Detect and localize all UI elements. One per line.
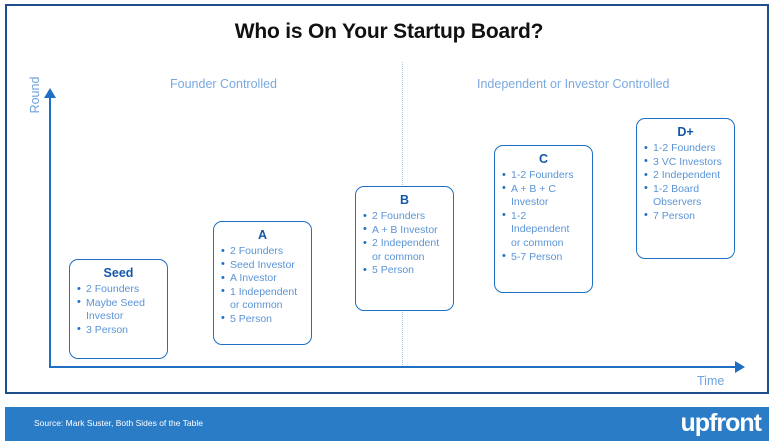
stage-item-list: 2 FoundersA + B Investor2 Independentor … <box>363 210 446 278</box>
stage-box-d-plus[interactable]: D+ 1-2 Founders3 VC Investors2 Independe… <box>636 118 735 259</box>
stage-item: 3 VC Investors <box>644 156 727 170</box>
stage-item-list: 2 FoundersSeed InvestorA Investor1 Indep… <box>221 245 304 327</box>
stage-item: 5 Person <box>363 264 446 278</box>
stage-item: Independent <box>502 223 585 237</box>
diagram-panel: Who is On Your Startup Board? Founder Co… <box>5 4 769 394</box>
stage-item: 2 Founders <box>363 210 446 224</box>
section-header-founder-controlled: Founder Controlled <box>170 77 277 91</box>
stage-item: or common <box>221 299 304 313</box>
y-axis-label: Round <box>28 65 42 125</box>
stage-item: Observers <box>644 196 727 210</box>
stage-item: A + B + C <box>502 183 585 197</box>
x-axis-label: Time <box>697 374 724 388</box>
footer-bar: Source: Mark Suster, Both Sides of the T… <box>5 407 769 441</box>
stage-item: 2 Founders <box>77 283 160 297</box>
x-axis-arrow-icon <box>735 361 745 373</box>
stage-item: 2 Independent <box>644 169 727 183</box>
stage-item: or common <box>363 251 446 265</box>
footer-source-text: Source: Mark Suster, Both Sides of the T… <box>34 418 203 428</box>
stage-box-a[interactable]: A 2 FoundersSeed InvestorA Investor1 Ind… <box>213 221 312 345</box>
stage-item: 1-2 Founders <box>502 169 585 183</box>
stage-title: B <box>363 193 446 207</box>
stage-box-b[interactable]: B 2 FoundersA + B Investor2 Independento… <box>355 186 454 311</box>
stage-box-seed[interactable]: Seed 2 FoundersMaybe SeedInvestor3 Perso… <box>69 259 168 359</box>
stage-title: D+ <box>644 125 727 139</box>
stage-item: A Investor <box>221 272 304 286</box>
stage-item: 1-2 Board <box>644 183 727 197</box>
y-axis-arrow-icon <box>44 88 56 98</box>
section-header-investor-controlled: Independent or Investor Controlled <box>477 77 670 91</box>
stage-item: or common <box>502 237 585 251</box>
upfront-logo: upfront <box>681 409 761 438</box>
stage-item-list: 1-2 Founders3 VC Investors2 Independent1… <box>644 142 727 224</box>
stage-item: 2 Independent <box>363 237 446 251</box>
stage-item: Maybe Seed <box>77 297 160 311</box>
stage-box-c[interactable]: C 1-2 FoundersA + B + CInvestor1-2Indepe… <box>494 145 593 293</box>
stage-item: A + B Investor <box>363 224 446 238</box>
stage-item: Investor <box>77 310 160 324</box>
stage-title: C <box>502 152 585 166</box>
slide-root: Who is On Your Startup Board? Founder Co… <box>0 0 776 446</box>
stage-item: 2 Founders <box>221 245 304 259</box>
stage-item: 1-2 Founders <box>644 142 727 156</box>
stage-title: Seed <box>77 266 160 280</box>
stage-item: 3 Person <box>77 324 160 338</box>
x-axis-line <box>49 366 737 368</box>
stage-item: Investor <box>502 196 585 210</box>
stage-item: 5 Person <box>221 313 304 327</box>
y-axis-line <box>49 96 51 368</box>
stage-item-list: 1-2 FoundersA + B + CInvestor1-2Independ… <box>502 169 585 264</box>
stage-item: Seed Investor <box>221 259 304 273</box>
stage-title: A <box>221 228 304 242</box>
stage-item: 7 Person <box>644 210 727 224</box>
stage-item: 1 Independent <box>221 286 304 300</box>
stage-item: 1-2 <box>502 210 585 224</box>
page-title: Who is On Your Startup Board? <box>7 20 771 44</box>
stage-item-list: 2 FoundersMaybe SeedInvestor3 Person <box>77 283 160 337</box>
stage-item: 5-7 Person <box>502 251 585 265</box>
